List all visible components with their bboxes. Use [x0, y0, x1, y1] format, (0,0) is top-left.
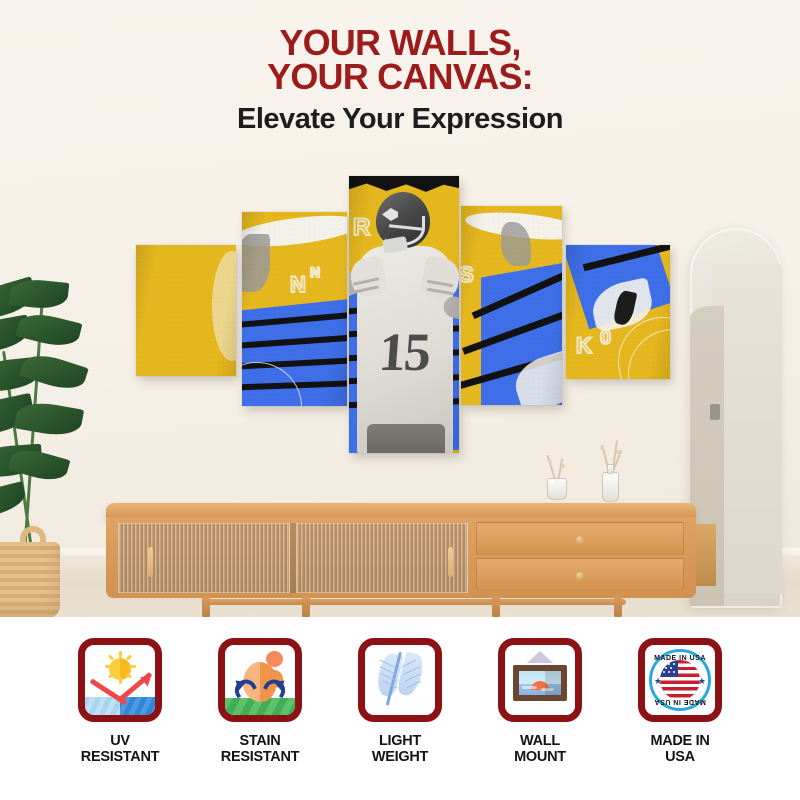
canvas-panel-2[interactable]: N N: [242, 212, 347, 406]
stain-resistant-tile[interactable]: [218, 638, 302, 722]
arrow-head-icon: [140, 672, 154, 687]
sliding-glass-door-right[interactable]: [296, 523, 468, 593]
drawer-bottom[interactable]: [476, 558, 684, 591]
feature-label-uv: UV RESISTANT: [81, 733, 159, 765]
quarterback-figure: 15: [349, 176, 459, 453]
headline-subline: Elevate Your Expression: [0, 103, 800, 135]
headline-line-1: YOUR WALLS,: [0, 26, 800, 60]
label-line-2: MOUNT: [514, 749, 566, 765]
canvas-panel-4[interactable]: S: [461, 206, 562, 405]
usa-flag-icon: [660, 660, 700, 700]
feature-light-weight[interactable]: LIGHT WEIGHT: [341, 638, 459, 765]
woven-basket: [0, 542, 60, 617]
canvas-panel-3[interactable]: R: [349, 176, 459, 453]
headline-line-2: YOUR CANVAS:: [0, 60, 800, 94]
drawer-top[interactable]: [476, 522, 684, 555]
feature-label-light: LIGHT WEIGHT: [372, 733, 428, 765]
feature-stain-resistant[interactable]: STAIN RESISTANT: [201, 638, 319, 765]
label-line-1: WALL: [514, 733, 566, 749]
console-body: [106, 517, 696, 598]
feature-bar: UV RESISTANT STAIN RESISTA: [0, 628, 800, 800]
feature-label-made-in-usa: MADE IN USA: [650, 733, 709, 765]
room-scene: N N R: [0, 0, 800, 617]
stool-reflection: [694, 524, 716, 586]
hanger-icon: [527, 651, 553, 663]
wall-mount-icon: [505, 645, 575, 715]
canvas-panel-5[interactable]: K 0: [566, 245, 670, 379]
drawer-knob[interactable]: [576, 536, 584, 544]
light-weight-tile[interactable]: [358, 638, 442, 722]
console-leg: [614, 596, 622, 617]
uv-resistant-tile[interactable]: [78, 638, 162, 722]
sliding-glass-door-left[interactable]: [118, 523, 290, 593]
uv-resistant-icon: [85, 645, 155, 715]
feature-made-in-usa[interactable]: MADE IN USA MADE IN USA ★ ★: [621, 638, 739, 765]
console-leg: [492, 596, 500, 617]
feature-label-wall-mount: WALL MOUNT: [514, 733, 566, 765]
wall-mount-tile[interactable]: [498, 638, 582, 722]
feature-label-stain: STAIN RESISTANT: [221, 733, 299, 765]
label-line-1: MADE IN: [650, 733, 709, 749]
label-line-2: USA: [650, 749, 709, 765]
stain-resistant-icon: [225, 645, 295, 715]
drawer-knob[interactable]: [576, 572, 584, 580]
feature-wall-mount[interactable]: WALL MOUNT: [481, 638, 599, 765]
usa-badge-ring: MADE IN USA MADE IN USA ★ ★: [649, 649, 711, 711]
console-stretcher: [206, 599, 626, 605]
console-leg: [202, 596, 210, 617]
feature-uv-resistant[interactable]: UV RESISTANT: [61, 638, 179, 765]
cabinet-recess: [118, 523, 468, 593]
label-line-2: RESISTANT: [81, 749, 159, 765]
console-leg: [302, 596, 310, 617]
picture-frame-icon: [513, 665, 568, 701]
product-listing-page: N N R: [0, 0, 800, 800]
label-line-1: UV: [81, 733, 159, 749]
made-in-usa-icon: MADE IN USA MADE IN USA ★ ★: [645, 645, 715, 715]
canvas-panel-1[interactable]: [136, 245, 236, 376]
media-console: [106, 503, 696, 613]
label-line-1: LIGHT: [372, 733, 428, 749]
door-handle-right[interactable]: [448, 547, 453, 577]
headline-block: YOUR WALLS, YOUR CANVAS: Elevate Your Ex…: [0, 26, 800, 135]
made-in-usa-tile[interactable]: MADE IN USA MADE IN USA ★ ★: [638, 638, 722, 722]
label-line-2: RESISTANT: [221, 749, 299, 765]
jersey-number: 15: [377, 326, 431, 378]
door-handle-left[interactable]: [148, 547, 153, 577]
light-weight-icon: [365, 645, 435, 715]
label-line-2: WEIGHT: [372, 749, 428, 765]
label-line-1: STAIN: [221, 733, 299, 749]
